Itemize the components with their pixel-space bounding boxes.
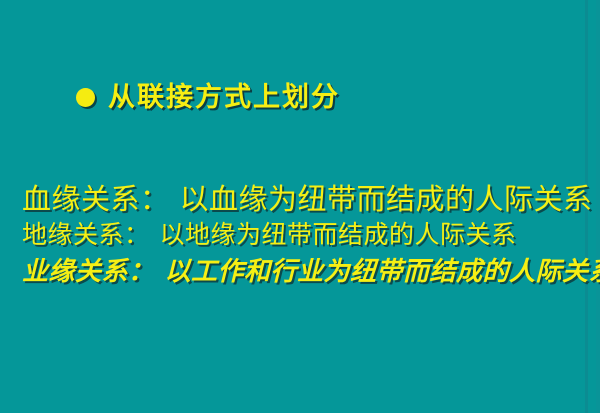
slide-body: 血缘关系：以血缘为纽带而结成的人际关系 地缘关系：以地缘为纽带而结成的人际关系 … — [22, 186, 582, 285]
body-line-1: 血缘关系：以血缘为纽带而结成的人际关系 — [22, 186, 582, 215]
body-line-3-term: 业缘关系： — [22, 257, 155, 287]
body-line-3-description: 以工作和行业为纽带而结成的人际关系 — [165, 257, 600, 287]
bullet-circle-icon — [76, 88, 95, 107]
body-line-3: 业缘关系：以工作和行业为纽带而结成的人际关系 — [22, 259, 582, 285]
body-line-1-description: 以血缘为纽带而结成的人际关系 — [180, 184, 593, 216]
body-line-2-term: 地缘关系： — [22, 222, 150, 249]
presentation-slide: 从联接方式上划分 血缘关系：以血缘为纽带而结成的人际关系 地缘关系：以地缘为纽带… — [0, 0, 600, 413]
body-line-2-description: 以地缘为纽带而结成的人际关系 — [160, 222, 517, 249]
slide-title: 从联接方式上划分 — [108, 84, 340, 111]
slide-title-row: 从联接方式上划分 — [76, 84, 340, 111]
body-line-2: 地缘关系：以地缘为纽带而结成的人际关系 — [22, 223, 582, 248]
slide-right-edge-band-outer — [596, 0, 600, 413]
body-line-1-term: 血缘关系： — [22, 184, 170, 216]
